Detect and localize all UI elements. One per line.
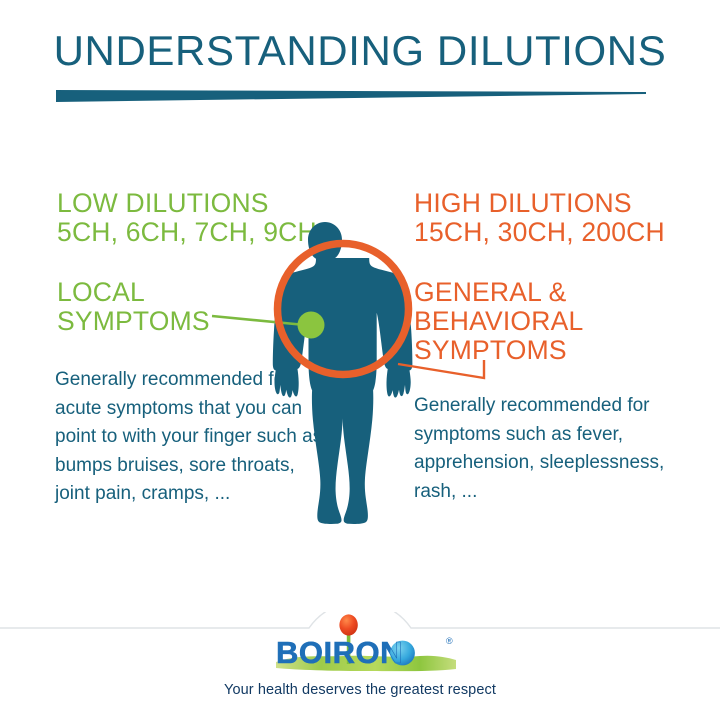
general-behavioral-symptoms-label: GENERAL & BEHAVIORAL SYMPTOMS xyxy=(414,278,583,365)
registered-trademark-mark: ® xyxy=(446,636,453,646)
low-dilutions-description: Generally recommended for acute symptoms… xyxy=(55,366,325,509)
low-dilutions-heading-line2: 5CH, 6CH, 7CH, 9CH xyxy=(57,218,317,247)
local-symptoms-line1: LOCAL xyxy=(57,278,210,307)
general-symptoms-line1: GENERAL & xyxy=(414,278,583,307)
general-symptoms-line2: BEHAVIORAL xyxy=(414,307,583,336)
infographic-poster: UNDERSTANDING DILUTIONS LOW DILUTIONS 5C… xyxy=(0,0,720,720)
low-dilutions-heading: LOW DILUTIONS 5CH, 6CH, 7CH, 9CH xyxy=(57,189,317,247)
boiron-logo[interactable]: BOIRON BOIRON ® xyxy=(270,613,462,677)
red-flower-icon xyxy=(339,614,357,635)
title-underline-rule xyxy=(56,90,646,104)
high-dilutions-description: Generally recommended for symptoms such … xyxy=(414,392,682,506)
local-symptoms-line2: SYMPTOMS xyxy=(57,307,210,336)
green-local-point xyxy=(298,312,325,339)
boiron-wordmark-overlay: BOIRON xyxy=(276,635,403,670)
high-dilutions-heading-line2: 15CH, 30CH, 200CH xyxy=(414,218,665,247)
title-block: UNDERSTANDING DILUTIONS xyxy=(0,28,720,74)
low-dilutions-heading-line1: LOW DILUTIONS xyxy=(57,189,317,218)
local-symptoms-label: LOCAL SYMPTOMS xyxy=(57,278,210,336)
high-dilutions-heading: HIGH DILUTIONS 15CH, 30CH, 200CH xyxy=(414,189,665,247)
orange-torso-circle xyxy=(278,244,409,375)
page-title: UNDERSTANDING DILUTIONS xyxy=(0,28,720,74)
brand-tagline: Your health deserves the greatest respec… xyxy=(0,682,720,698)
local-symptoms-leader-line xyxy=(212,316,305,325)
general-symptoms-line3: SYMPTOMS xyxy=(414,336,583,365)
high-dilutions-heading-line1: HIGH DILUTIONS xyxy=(414,189,665,218)
